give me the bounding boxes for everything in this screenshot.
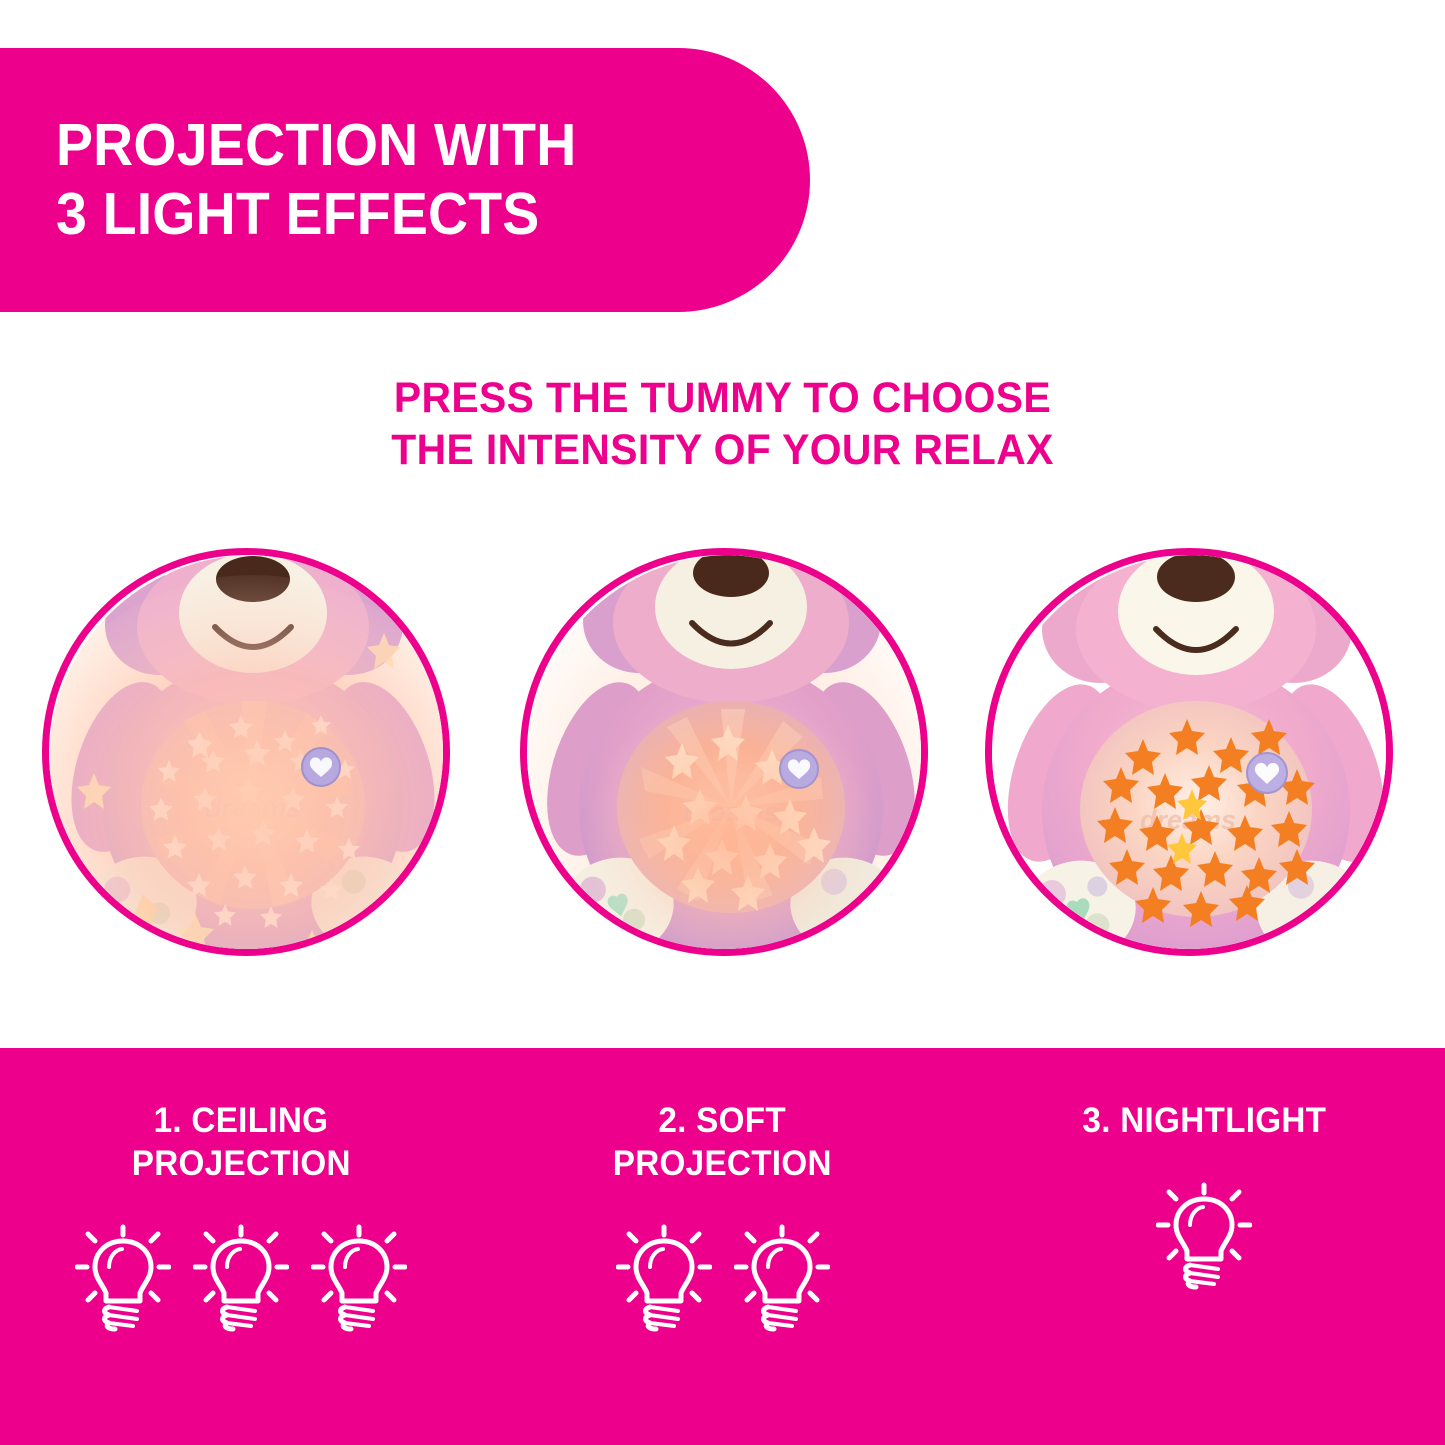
- subtitle-line1: PRESS THE TUMMY TO CHOOSE: [36, 372, 1409, 424]
- bulb-row-soft-projection: [616, 1223, 830, 1335]
- footer-label-1-line2: PROJECTION: [131, 1143, 350, 1186]
- bear-illustration-2: dreams: [527, 555, 921, 949]
- footer-banner: 1. CEILING PROJECTION: [0, 1048, 1445, 1445]
- bear-scene-3: dreams: [992, 555, 1386, 949]
- subtitle-block: PRESS THE TUMMY TO CHOOSE THE INTENSITY …: [0, 372, 1445, 477]
- lightbulb-icon: [1156, 1181, 1252, 1293]
- mode-photo-row: dreams: [0, 548, 1445, 968]
- footer-label-3-line1: 3. NIGHTLIGHT: [1082, 1100, 1326, 1143]
- footer-columns: 1. CEILING PROJECTION: [0, 1048, 1445, 1445]
- footer-label-1-line1: 1. CEILING: [153, 1100, 328, 1143]
- lightbulb-icon: [616, 1223, 712, 1335]
- lightbulb-icon: [75, 1223, 171, 1335]
- footer-label-2-line1: 2. SOFT: [659, 1100, 787, 1143]
- footer-col-nightlight: 3. NIGHTLIGHT: [963, 1048, 1445, 1445]
- header-title-line1: PROJECTION WITH: [56, 111, 708, 180]
- lightbulb-icon: [311, 1223, 407, 1335]
- bulb-row-ceiling-projection: [75, 1223, 407, 1335]
- header-banner: PROJECTION WITH 3 LIGHT EFFECTS: [0, 48, 810, 312]
- footer-col-ceiling-projection: 1. CEILING PROJECTION: [0, 1048, 482, 1445]
- footer-label-2-line2: PROJECTION: [613, 1143, 832, 1186]
- mode-photo-ceiling-projection: dreams: [42, 548, 450, 956]
- header-title-line2: 3 LIGHT EFFECTS: [56, 180, 708, 249]
- bear-scene-1: dreams: [49, 555, 443, 949]
- bear-scene-2: dreams: [527, 555, 921, 949]
- bear-illustration-3: dreams: [992, 555, 1386, 949]
- light-wash-1: [49, 575, 443, 949]
- footer-col-soft-projection: 2. SOFT PROJECTION: [482, 1048, 964, 1445]
- mode-photo-nightlight: dreams: [985, 548, 1393, 956]
- lightbulb-icon: [734, 1223, 830, 1335]
- bulb-row-nightlight: [1156, 1181, 1252, 1293]
- bear-illustration-1: dreams: [49, 555, 443, 949]
- mode-photo-soft-projection: dreams: [520, 548, 928, 956]
- lightbulb-icon: [193, 1223, 289, 1335]
- subtitle-line2: THE INTENSITY OF YOUR RELAX: [36, 424, 1409, 476]
